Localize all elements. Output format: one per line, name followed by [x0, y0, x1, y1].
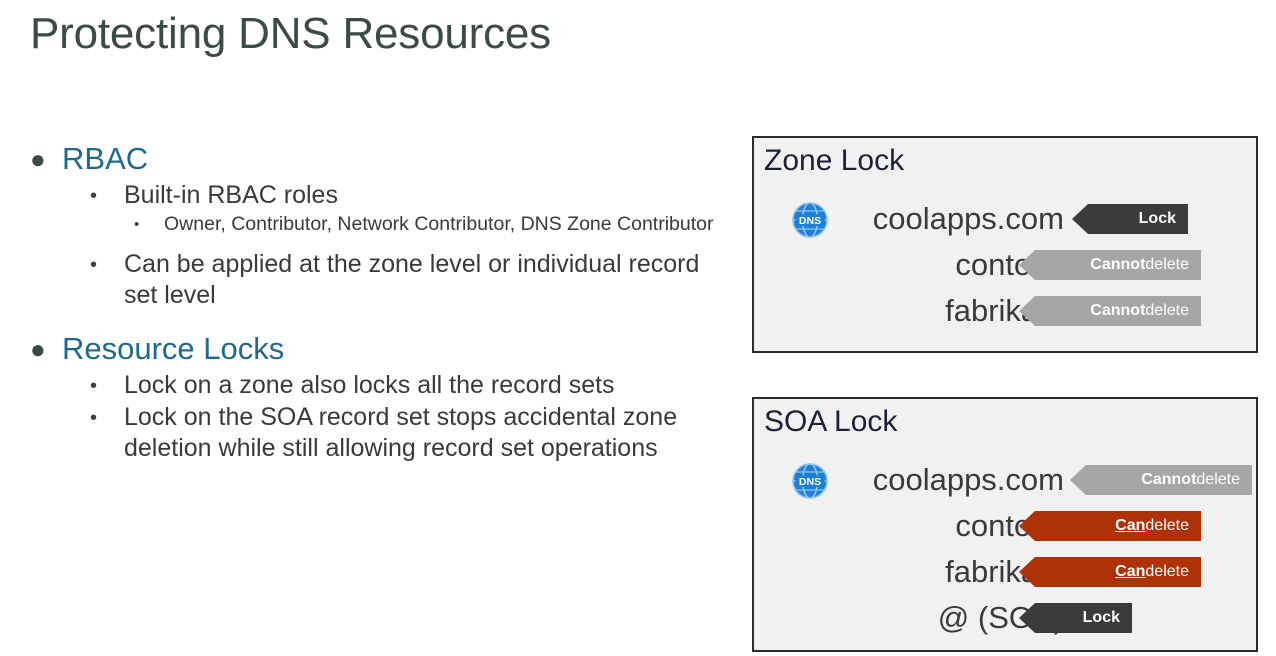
zone-row: fabrikam Cannot delete [754, 288, 1256, 334]
bullet-marker-icon: • [90, 402, 124, 428]
bullet-marker-icon: • [134, 212, 164, 232]
callout-emphasis: Cannot [1090, 256, 1145, 274]
bullet-list: ● RBAC • Built-in RBAC roles • Owner, Co… [30, 140, 720, 465]
callout-can-delete: Can delete [1019, 557, 1201, 587]
zone-row: fabrikam Can delete [754, 549, 1256, 595]
callout-emphasis: Cannot [1090, 302, 1145, 320]
bullet-label: Owner, Contributor, Network Contributor,… [164, 212, 720, 237]
zone-row: @ (SOA) Lock [754, 595, 1256, 641]
callout-cannot-delete: Cannot delete [1019, 250, 1201, 280]
callout-emphasis: Lock [1139, 210, 1176, 228]
page-title: Protecting DNS Resources [30, 8, 551, 61]
bullet-item-zone-lock-note: • Lock on a zone also locks all the reco… [30, 370, 720, 401]
zone-row: DNS coolapps.com Cannot delete [754, 457, 1256, 503]
zone-name: @ (SOA) [754, 595, 1064, 641]
spacer [30, 239, 720, 249]
bullet-label: Lock on the SOA record set stops acciden… [124, 402, 720, 464]
zone-name: contoso [754, 503, 1064, 549]
bullet-marker-icon: ● [30, 330, 62, 362]
callout-lock: Lock [1072, 204, 1188, 234]
zone-name: fabrikam [754, 288, 1064, 334]
spacer [30, 312, 720, 330]
callout-rest: delete [1145, 256, 1189, 274]
callout-emphasis: Cannot [1141, 471, 1196, 489]
bullet-item-scope: • Can be applied at the zone level or in… [30, 249, 720, 311]
callout-emphasis: Can [1115, 517, 1145, 535]
bullet-item-role-names: • Owner, Contributor, Network Contributo… [30, 212, 720, 237]
callout-rest: delete [1145, 302, 1189, 320]
zone-lock-panel: Zone Lock DNS coolapps.com Lock [752, 136, 1258, 353]
callout-can-delete: Can delete [1019, 511, 1201, 541]
callout-cannot-delete: Cannot delete [1070, 465, 1252, 495]
zone-row: contoso Can delete [754, 503, 1256, 549]
bullet-marker-icon: ● [30, 140, 62, 172]
bullet-item-soa-lock-note: • Lock on the SOA record set stops accid… [30, 402, 720, 464]
bullet-item-rbac: ● RBAC [30, 140, 720, 178]
callout-rest: delete [1145, 563, 1189, 581]
soa-lock-rows: DNS coolapps.com Cannot delete contoso C… [754, 457, 1256, 641]
soa-lock-panel: SOA Lock DNS coolapps.com Cannot delete [752, 397, 1258, 652]
bullet-marker-icon: • [90, 370, 124, 396]
zone-lock-rows: DNS coolapps.com Lock contoso Cannot del… [754, 196, 1256, 334]
zone-name: fabrikam [754, 549, 1064, 595]
bullet-marker-icon: • [90, 180, 124, 206]
bullet-label: Can be applied at the zone level or indi… [124, 249, 720, 311]
bullet-item-builtin-roles: • Built-in RBAC roles [30, 180, 720, 211]
zone-name: coolapps.com [754, 196, 1064, 242]
callout-lock: Lock [1019, 603, 1132, 633]
callout-rest: delete [1145, 517, 1189, 535]
bullet-label: Built-in RBAC roles [124, 180, 720, 211]
soa-lock-panel-title: SOA Lock [764, 403, 897, 441]
bullet-marker-icon: • [90, 249, 124, 275]
zone-row: contoso Cannot delete [754, 242, 1256, 288]
bullet-label: Resource Locks [62, 330, 720, 368]
zone-name: coolapps.com [754, 457, 1064, 503]
bullet-label: Lock on a zone also locks all the record… [124, 370, 720, 401]
bullet-label: RBAC [62, 140, 720, 178]
zone-name: contoso [754, 242, 1064, 288]
callout-cannot-delete: Cannot delete [1019, 296, 1201, 326]
callout-emphasis: Can [1115, 563, 1145, 581]
callout-rest: delete [1196, 471, 1240, 489]
zone-lock-panel-title: Zone Lock [764, 142, 904, 180]
bullet-item-resource-locks: ● Resource Locks [30, 330, 720, 368]
zone-row: DNS coolapps.com Lock [754, 196, 1256, 242]
callout-emphasis: Lock [1083, 609, 1120, 627]
